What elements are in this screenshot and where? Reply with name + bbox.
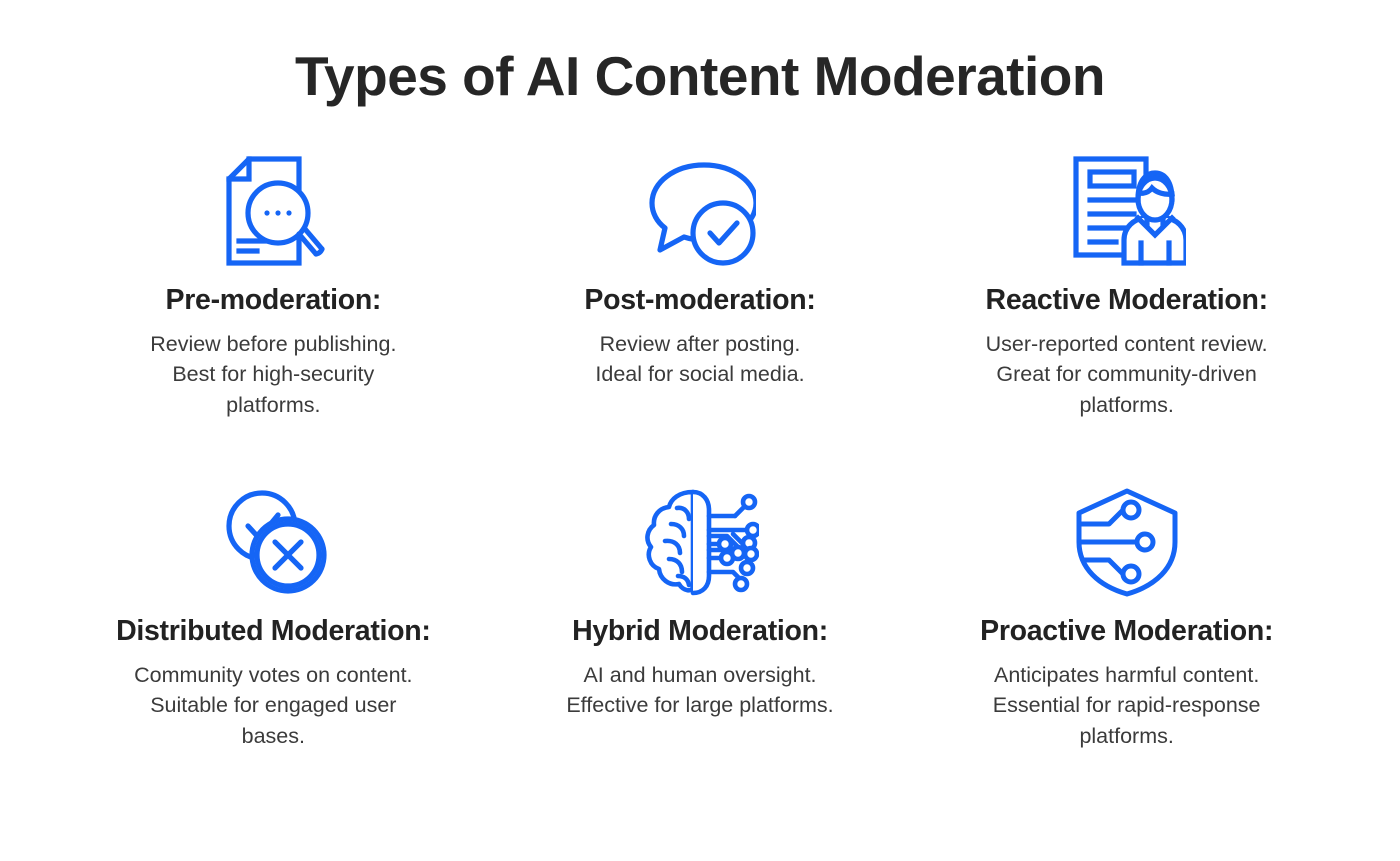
description-line: Anticipates harmful content. bbox=[993, 660, 1261, 691]
description-line: platforms. bbox=[986, 390, 1268, 421]
description-line: platforms. bbox=[993, 721, 1261, 752]
card-post-moderation: Post-moderation: Review after posting. I… bbox=[487, 150, 914, 481]
ai-brain-circuit-icon bbox=[641, 481, 759, 603]
page-title: Types of AI Content Moderation bbox=[0, 46, 1400, 107]
card-pre-moderation: Pre-moderation: Review before publishing… bbox=[60, 150, 487, 481]
card-proactive-moderation: Proactive Moderation: Anticipates harmfu… bbox=[913, 481, 1340, 812]
card-description: Anticipates harmful content. Essential f… bbox=[993, 660, 1261, 752]
card-title: Proactive Moderation: bbox=[980, 615, 1273, 648]
description-line: Suitable for engaged user bbox=[134, 690, 412, 721]
description-line: Review after posting. bbox=[595, 329, 804, 360]
card-description: Community votes on content. Suitable for… bbox=[134, 660, 412, 752]
shield-circuit-icon bbox=[1071, 481, 1183, 603]
description-line: Effective for large platforms. bbox=[566, 690, 833, 721]
card-hybrid-moderation: Hybrid Moderation: AI and human oversigh… bbox=[487, 481, 914, 812]
check-cross-circles-icon bbox=[217, 481, 329, 603]
description-line: AI and human oversight. bbox=[566, 660, 833, 691]
card-description: Review before publishing. Best for high-… bbox=[150, 329, 396, 421]
card-description: Review after posting. Ideal for social m… bbox=[595, 329, 804, 390]
description-line: Community votes on content. bbox=[134, 660, 412, 691]
document-person-icon bbox=[1068, 150, 1186, 272]
moderation-type-grid: Pre-moderation: Review before publishing… bbox=[60, 150, 1340, 812]
card-title: Hybrid Moderation: bbox=[572, 615, 828, 648]
description-line: bases. bbox=[134, 721, 412, 752]
description-line: Ideal for social media. bbox=[595, 359, 804, 390]
card-title: Distributed Moderation: bbox=[116, 615, 431, 648]
description-line: platforms. bbox=[150, 390, 396, 421]
card-distributed-moderation: Distributed Moderation: Community votes … bbox=[60, 481, 487, 812]
description-line: Great for community-driven bbox=[986, 359, 1268, 390]
card-title: Pre-moderation: bbox=[166, 284, 382, 317]
card-description: User-reported content review. Great for … bbox=[986, 329, 1268, 421]
card-title: Post-moderation: bbox=[584, 284, 815, 317]
description-line: Essential for rapid-response bbox=[993, 690, 1261, 721]
card-description: AI and human oversight. Effective for la… bbox=[566, 660, 833, 721]
description-line: Best for high-security bbox=[150, 359, 396, 390]
card-title: Reactive Moderation: bbox=[986, 284, 1268, 317]
description-line: Review before publishing. bbox=[150, 329, 396, 360]
speech-bubble-check-icon bbox=[644, 150, 756, 272]
infographic-root: Types of AI Content Moderation bbox=[0, 0, 1400, 861]
card-reactive-moderation: Reactive Moderation: User-reported conte… bbox=[913, 150, 1340, 481]
document-magnifier-icon bbox=[219, 150, 327, 272]
description-line: User-reported content review. bbox=[986, 329, 1268, 360]
